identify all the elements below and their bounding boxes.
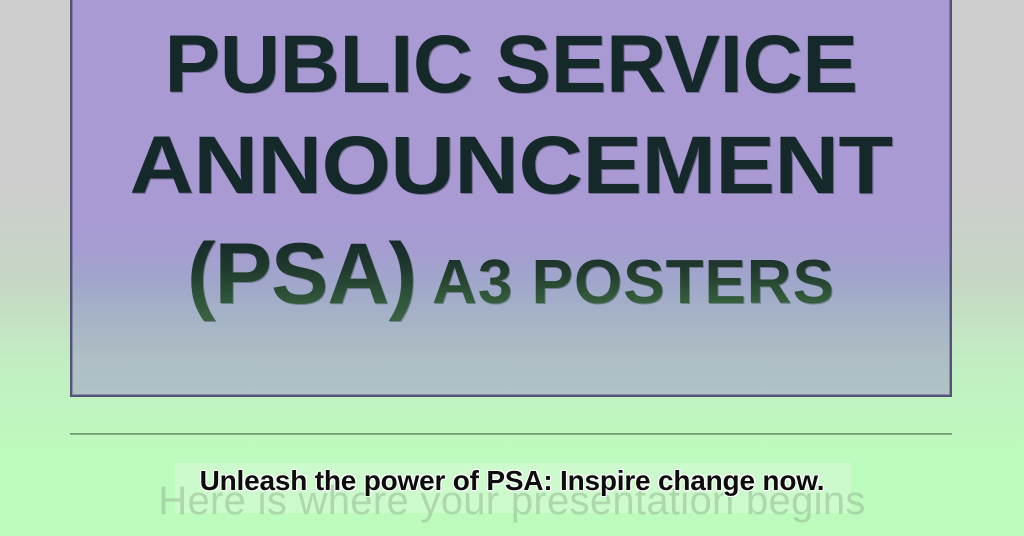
- headline-line-secondary: ANNOUNCEMENT: [32, 120, 989, 212]
- headline-line-tertiary: (PSA)A3 POSTERS: [72, 226, 950, 347]
- headline-block: PUBLIC SERVICE ANNOUNCEMENT (PSA)A3 POST…: [72, 0, 950, 347]
- headline-acronym: (PSA): [187, 226, 416, 322]
- subtitle-text: Unleash the power of PSA: Inspire change…: [0, 464, 1024, 498]
- bottom-text-area: Here is where your presentation begins U…: [0, 455, 1024, 536]
- headline-subject: A3 POSTERS: [432, 248, 835, 317]
- headline-line-primary: PUBLIC SERVICE: [63, 20, 959, 110]
- title-panel: PUBLIC SERVICE ANNOUNCEMENT (PSA)A3 POST…: [70, 0, 952, 397]
- divider-rule: [70, 433, 952, 435]
- slide-canvas: PUBLIC SERVICE ANNOUNCEMENT (PSA)A3 POST…: [0, 0, 1024, 536]
